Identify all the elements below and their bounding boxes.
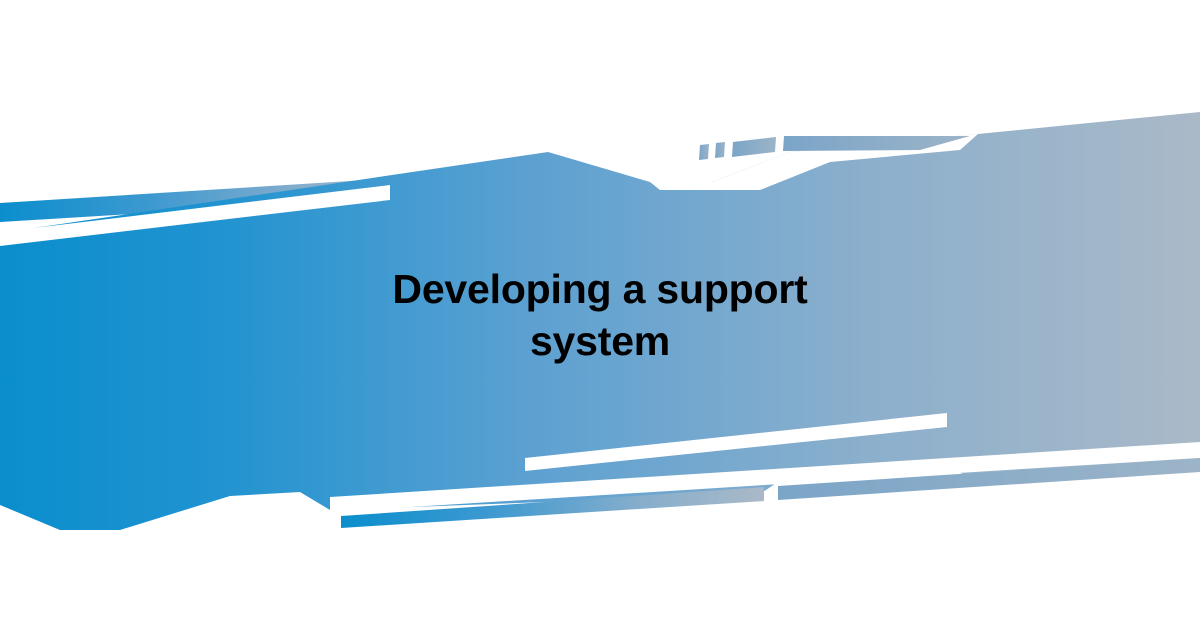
- banner-background-graphic: [0, 0, 1200, 630]
- decor-dash-2: [715, 142, 725, 158]
- decor-dash-1: [699, 144, 709, 160]
- decor-dash-3: [732, 137, 776, 157]
- banner-hero: Developing a support system: [0, 0, 1200, 630]
